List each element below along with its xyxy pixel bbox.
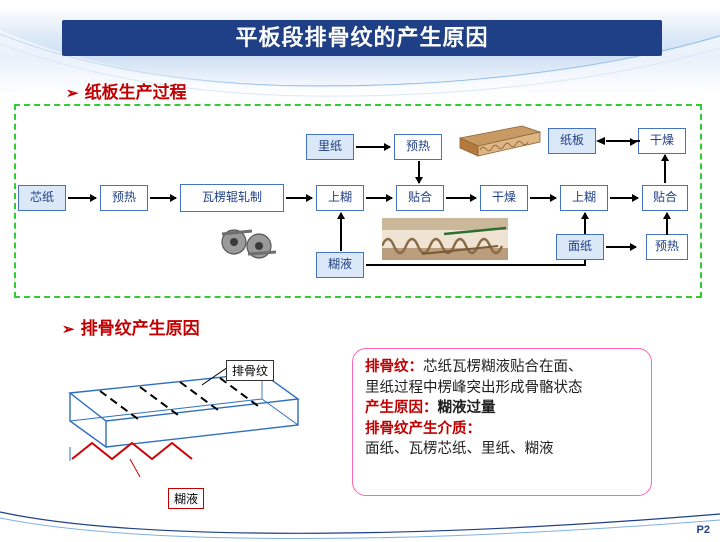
- flow-box-shanghu-2: 上糊: [560, 185, 608, 211]
- section-heading-production-process: ➢纸板生产过程: [66, 78, 187, 103]
- flow-box-yure-3: 预热: [646, 234, 688, 260]
- line-huye-to-shanghu2-horizontal: [366, 264, 586, 266]
- explanation-line-2: 里纸过程中楞峰突出形成骨骼状态: [365, 378, 641, 399]
- flow-box-tiehe-2: 贴合: [642, 185, 688, 211]
- explanation-sep-4: ：: [467, 421, 482, 437]
- arrow-tiehe2-to-ganzao2: [664, 155, 666, 183]
- flow-box-ganzao-2: 干燥: [638, 128, 686, 154]
- explanation-line-3: 产生原因：糊液过量: [365, 398, 641, 419]
- board-perspective-diagram: [30, 355, 330, 505]
- flow-box-label: 上糊: [572, 191, 596, 205]
- flow-box-lizhi: 里纸: [306, 134, 354, 160]
- explanation-label-1: 排骨纹: [365, 359, 409, 375]
- flow-box-ganzao-1: 干燥: [480, 185, 528, 211]
- explanation-line-4: 排骨纹产生介质：: [365, 419, 641, 440]
- flow-box-label: 干燥: [650, 134, 674, 148]
- flow-box-label: 预热: [406, 140, 430, 154]
- explanation-sep-3: ：: [423, 400, 438, 416]
- explanation-label-4: 排骨纹产生介质: [365, 421, 467, 437]
- flow-box-label: 预热: [112, 191, 136, 205]
- cause-explanation-box: 排骨纹：芯纸瓦楞糊液贴合在面、 里纸过程中楞峰突出形成骨骼状态 产生原因：糊液过…: [352, 348, 652, 496]
- explanation-text-5: 面纸、瓦楞芯纸、里纸、糊液: [365, 441, 554, 457]
- page-title: 平板段排骨纹的产生原因: [62, 22, 662, 54]
- label-paigu-wen: 排骨纹: [226, 360, 274, 381]
- footer-curve: [0, 490, 720, 542]
- section-heading-cause: ➢排骨纹产生原因: [62, 314, 200, 339]
- corrugated-board-photo: [382, 218, 508, 260]
- arrow-tiehe1-to-ganzao1: [446, 197, 476, 199]
- explanation-sep-1: ：: [409, 359, 424, 375]
- explanation-line-1: 排骨纹：芯纸瓦楞糊液贴合在面、: [365, 357, 641, 378]
- arrow-mianzhi-to-yure3: [606, 246, 636, 248]
- flow-box-label: 贴合: [653, 191, 677, 205]
- explanation-text-3: 糊液过量: [438, 400, 496, 416]
- arrow-xinzhi-to-yure: [68, 197, 96, 199]
- section-2-label: 排骨纹产生原因: [81, 319, 200, 338]
- flow-box-label: 芯纸: [30, 191, 54, 205]
- flow-box-mianzhi: 面纸: [556, 234, 604, 260]
- slide-root: 平板段排骨纹的产生原因 ➢纸板生产过程 芯纸 预热 瓦楞辊轧制 上糊 贴合 干燥…: [0, 0, 720, 542]
- flow-box-label: 瓦楞辊轧制: [202, 191, 262, 205]
- arrow-ganzao2-to-zhiban: [596, 133, 640, 151]
- flow-box-label: 贴合: [408, 191, 432, 205]
- flow-box-shanghu-1: 上糊: [316, 185, 364, 211]
- arrow-yure3-to-tiehe2: [666, 213, 668, 235]
- flow-box-label: 面纸: [568, 240, 592, 254]
- flow-box-label: 上糊: [328, 191, 352, 205]
- arrow-lizhi-to-yure2: [356, 146, 390, 148]
- flow-box-zhiban: 纸板: [548, 128, 596, 154]
- explanation-text-1: 芯纸瓦楞糊液贴合在面、: [423, 359, 583, 375]
- explanation-line-5: 面纸、瓦楞芯纸、里纸、糊液: [365, 439, 641, 460]
- flow-box-walenggun: 瓦楞辊轧制: [180, 184, 284, 212]
- arrow-shanghu2-to-tiehe2: [610, 197, 638, 199]
- flow-box-yure-1: 预热: [100, 185, 148, 211]
- flow-box-label: 纸板: [560, 134, 584, 148]
- flow-box-xinzhi: 芯纸: [18, 185, 66, 211]
- flow-box-label: 糊液: [328, 258, 352, 272]
- arrow-yure-to-walenggun: [150, 197, 176, 199]
- arrow-huye-to-shanghu1: [340, 213, 342, 251]
- flow-box-label: 干燥: [492, 191, 516, 205]
- arrow-walenggun-to-shanghu1: [286, 197, 312, 199]
- paperboard-sample-illustration: [456, 124, 542, 162]
- arrow-yure2-to-tiehe1: [418, 161, 420, 183]
- section-1-label: 纸板生产过程: [85, 83, 187, 102]
- corrugating-roller-illustration: [212, 222, 284, 264]
- bullet-arrow-icon: ➢: [66, 85, 79, 102]
- page-number: P2: [697, 524, 710, 536]
- flow-box-label: 预热: [655, 240, 679, 254]
- bullet-arrow-icon: ➢: [62, 321, 75, 338]
- arrow-ganzao1-to-shanghu2: [530, 197, 556, 199]
- flow-box-label: 里纸: [318, 140, 342, 154]
- flow-box-tiehe-1: 贴合: [396, 185, 444, 211]
- explanation-text-2: 里纸过程中楞峰突出形成骨骼状态: [365, 380, 583, 396]
- explanation-label-3: 产生原因: [365, 400, 423, 416]
- flow-box-yure-2: 预热: [394, 134, 442, 160]
- flow-box-huye: 糊液: [316, 252, 364, 278]
- arrow-shanghu1-to-tiehe1: [366, 197, 392, 199]
